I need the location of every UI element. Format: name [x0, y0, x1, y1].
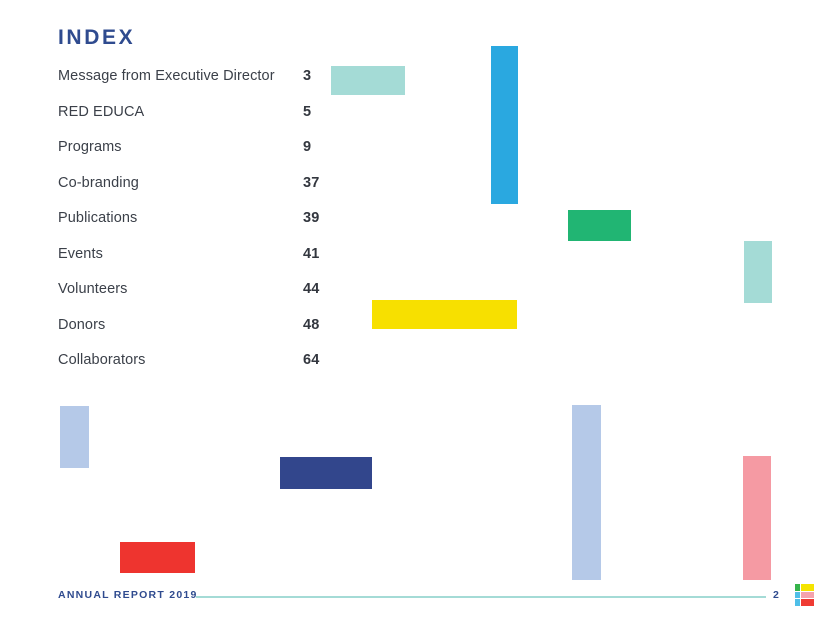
logo-block-3	[801, 592, 814, 598]
index-row[interactable]: Events41	[58, 246, 358, 282]
logo-block-4	[795, 599, 800, 606]
index-entry-label: Message from Executive Director	[58, 68, 275, 84]
lightblue-column-mid	[572, 405, 601, 580]
index-entry-label: Publications	[58, 210, 137, 226]
logo-block-5	[801, 599, 814, 606]
red-bar	[120, 542, 195, 573]
index-row[interactable]: Volunteers44	[58, 281, 358, 317]
index-entry-page-number: 5	[303, 104, 311, 120]
logo-block-2	[795, 592, 800, 598]
slide-page: INDEX Message from Executive Director3RE…	[0, 0, 830, 641]
index-entry-label: Events	[58, 246, 103, 262]
index-entry-label: Collaborators	[58, 352, 146, 368]
index-entry-page-number: 41	[303, 246, 320, 262]
green-bar	[568, 210, 631, 241]
logo-block-0	[795, 584, 800, 591]
educo-e-logo	[795, 584, 814, 606]
index-row[interactable]: Publications39	[58, 210, 358, 246]
index-entry-label: Volunteers	[58, 281, 128, 297]
index-entry-page-number: 37	[303, 175, 320, 191]
index-entry-page-number: 64	[303, 352, 320, 368]
index-row[interactable]: Programs9	[58, 139, 358, 175]
index-entry-page-number: 44	[303, 281, 320, 297]
footer-report-label: ANNUAL REPORT 2019	[58, 589, 198, 601]
index-row[interactable]: RED EDUCA5	[58, 104, 358, 140]
blue-column-top	[491, 46, 518, 204]
index-row[interactable]: Collaborators64	[58, 352, 358, 388]
index-entry-label: Donors	[58, 317, 105, 333]
page-title: INDEX	[58, 26, 135, 49]
yellow-bar	[372, 300, 517, 329]
index-entry-label: Programs	[58, 139, 122, 155]
pink-column-right	[743, 456, 771, 580]
lightblue-column-left	[60, 406, 89, 468]
index-row[interactable]: Message from Executive Director3	[58, 68, 358, 104]
teal-column-right	[744, 241, 772, 303]
index-entry-label: Co-branding	[58, 175, 139, 191]
index-row[interactable]: Donors48	[58, 317, 358, 353]
logo-block-1	[801, 584, 814, 591]
index-list: Message from Executive Director3RED EDUC…	[58, 68, 358, 388]
index-entry-page-number: 9	[303, 139, 311, 155]
index-entry-page-number: 3	[303, 68, 311, 84]
index-row[interactable]: Co-branding37	[58, 175, 358, 211]
navy-bar	[280, 457, 372, 489]
footer-page-number: 2	[773, 589, 779, 601]
index-entry-page-number: 39	[303, 210, 320, 226]
index-entry-label: RED EDUCA	[58, 104, 144, 120]
footer: ANNUAL REPORT 2019 2	[0, 589, 830, 641]
footer-divider-line	[196, 596, 766, 598]
index-entry-page-number: 48	[303, 317, 320, 333]
